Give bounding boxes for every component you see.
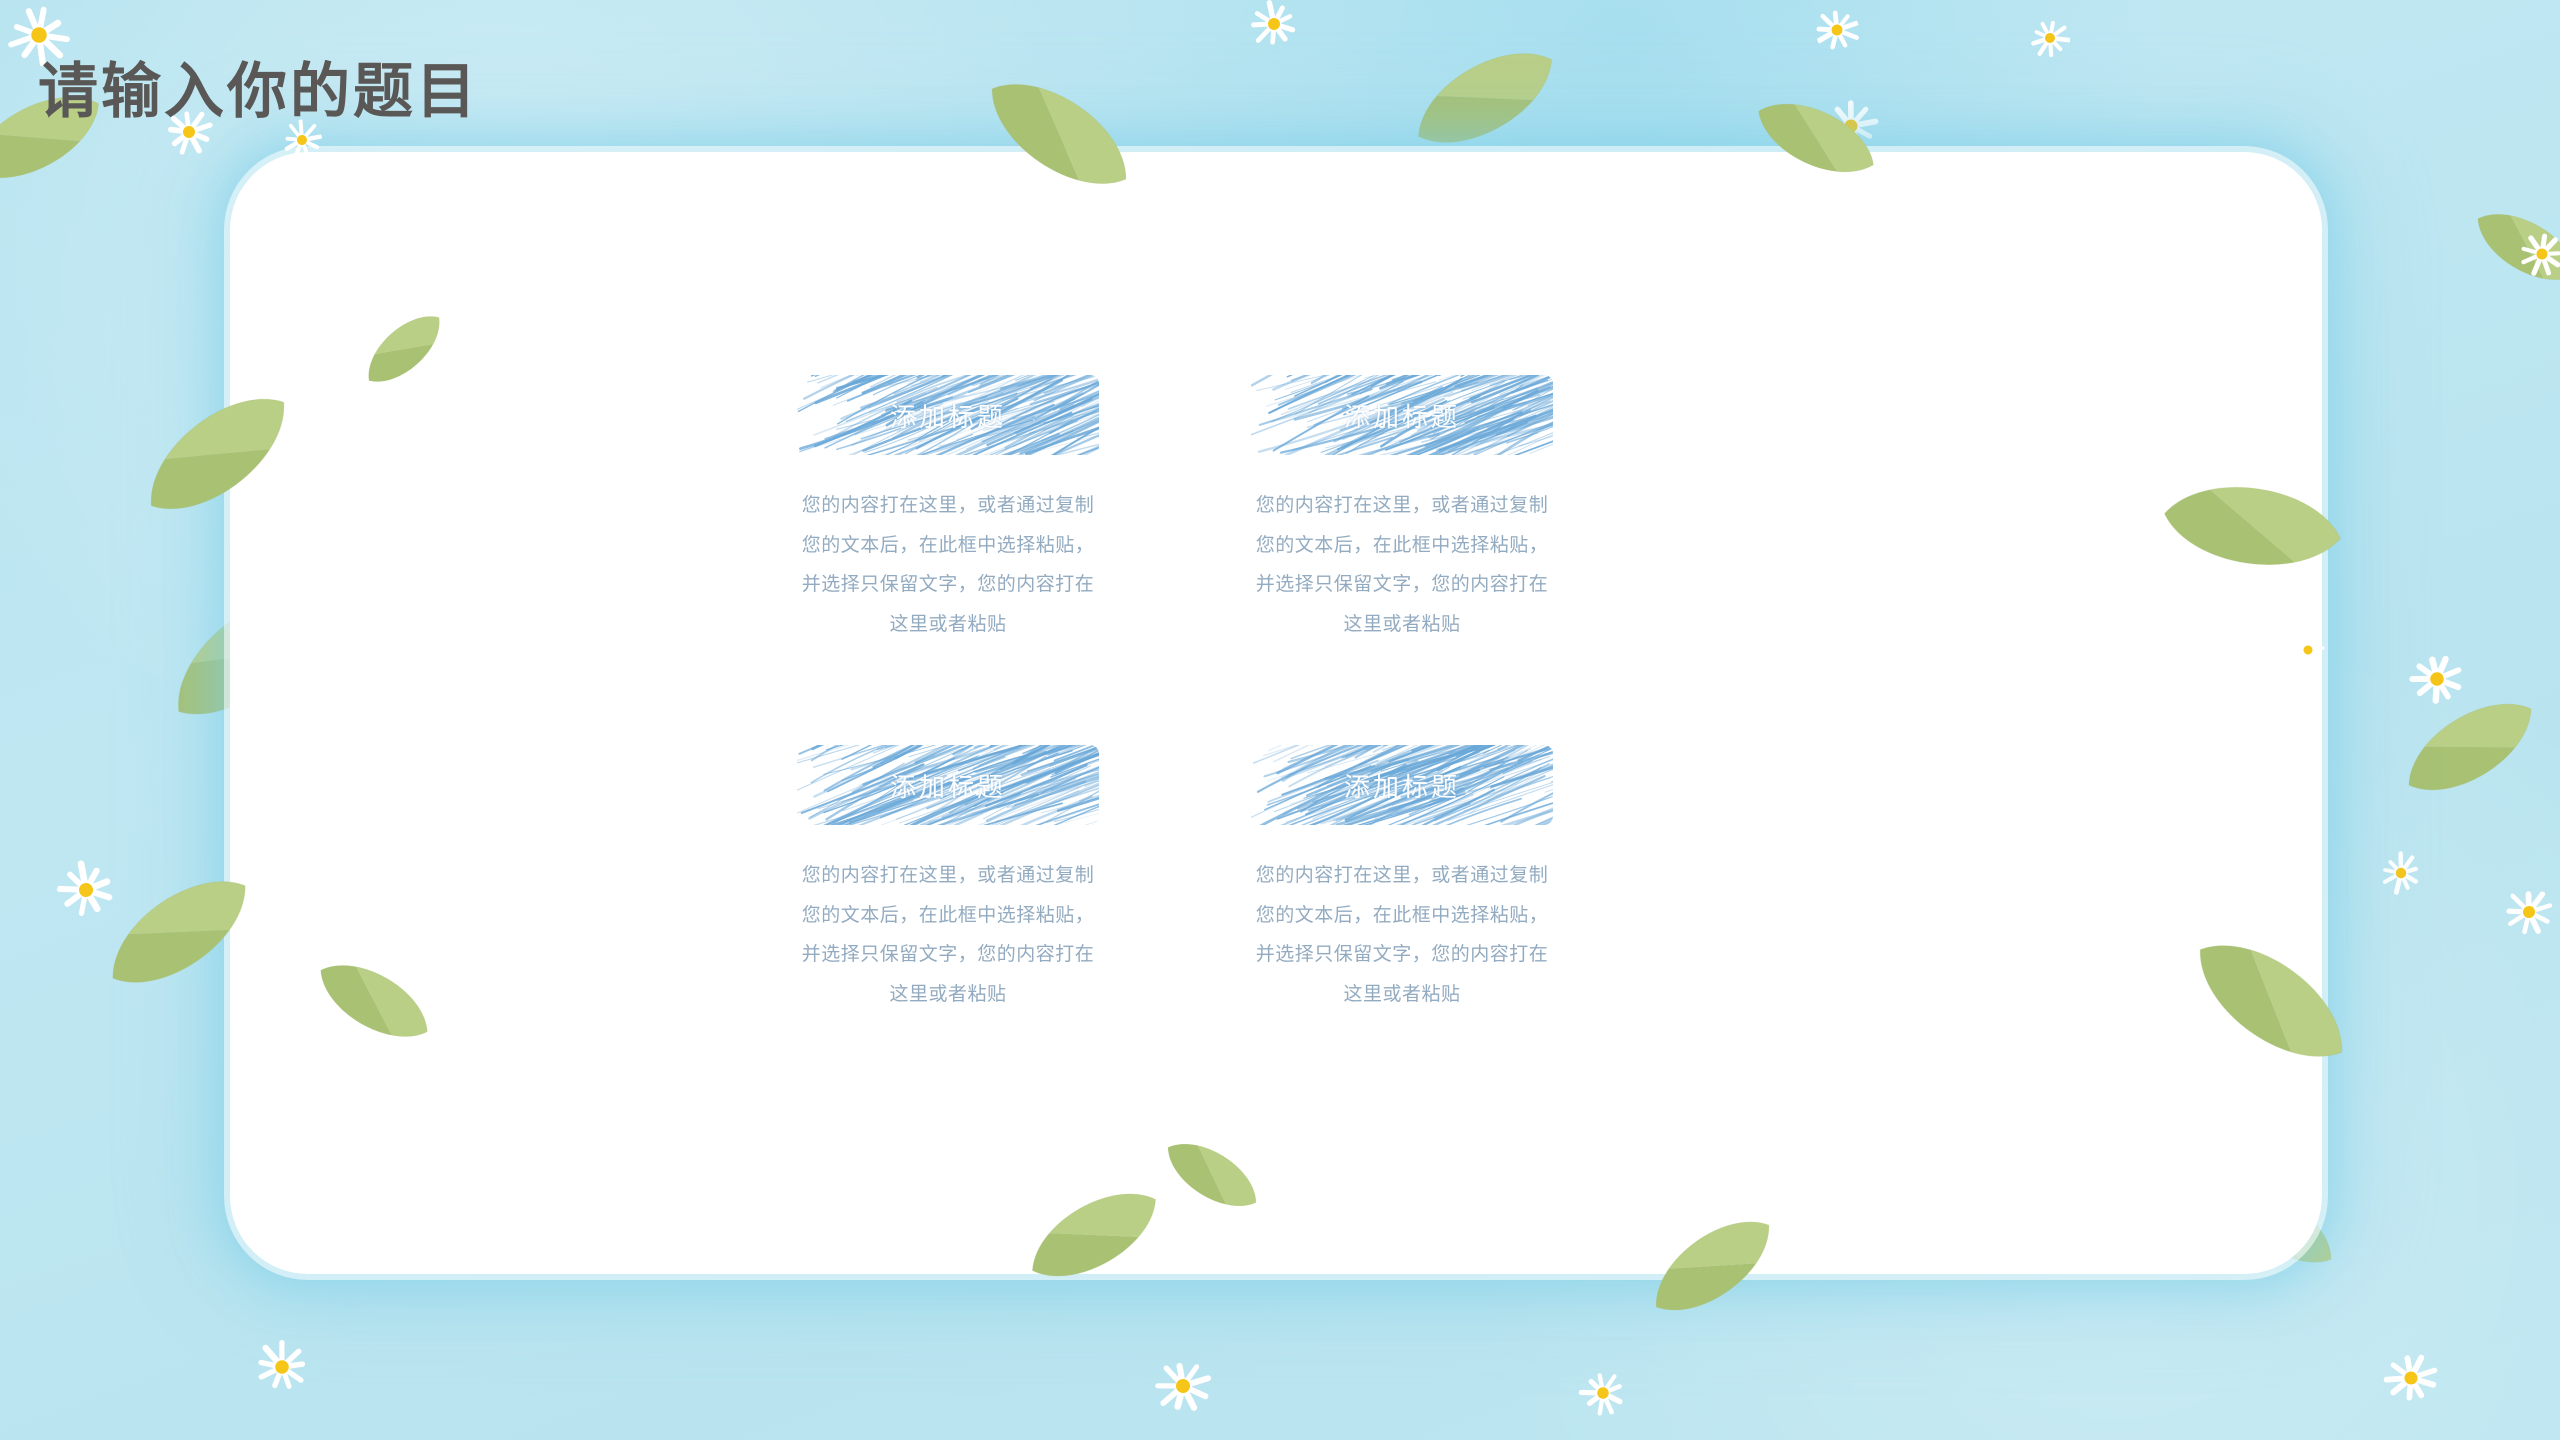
content-cell: 添加标题您的内容打在这里，或者通过复制您的文本后，在此框中选择粘贴，并选择只保留… [1254, 746, 1550, 1033]
leaf-icon [2457, 185, 2560, 308]
daisy-flower-icon [1816, 91, 1885, 160]
page-title: 请输入你的题目 [38, 54, 479, 129]
daisy-flower-icon [2375, 847, 2428, 900]
daisy-shape [1148, 1351, 1219, 1422]
content-cell: 添加标题您的内容打在这里，或者通过复制您的文本后，在此框中选择粘贴，并选择只保留… [800, 376, 1096, 663]
daisy-flower-icon [1573, 1363, 1633, 1423]
daisy-shape [2379, 1346, 2442, 1409]
daisy-flower-icon [250, 1335, 314, 1399]
heading-badge[interactable]: 添加标题 [1254, 376, 1550, 454]
heading-badge[interactable]: 添加标题 [800, 376, 1096, 454]
daisy-shape [2375, 847, 2428, 900]
leaf-shape [2457, 185, 2560, 308]
daisy-shape [1573, 1363, 1633, 1423]
daisy-shape [2517, 229, 2560, 280]
daisy-flower-icon [51, 855, 120, 924]
daisy-flower-icon [1809, 2, 1865, 58]
daisy-flower-icon [2498, 881, 2560, 943]
daisy-shape [2498, 881, 2560, 943]
heading-badge[interactable]: 添加标题 [1254, 746, 1550, 824]
heading-badge-label: 添加标题 [890, 767, 1006, 804]
heading-badge[interactable]: 添加标题 [800, 746, 1096, 824]
daisy-shape [51, 855, 120, 924]
daisy-shape [1816, 91, 1885, 160]
daisy-shape [1809, 2, 1865, 58]
daisy-shape [250, 1335, 314, 1399]
leaf-shape [2381, 667, 2558, 826]
cell-body-text: 您的内容打在这里，或者通过复制您的文本后，在此框中选择粘贴，并选择只保留文字，您… [1254, 486, 1550, 644]
cell-body-text: 您的内容打在这里，或者通过复制您的文本后，在此框中选择粘贴，并选择只保留文字，您… [1254, 856, 1550, 1014]
daisy-flower-icon [1148, 1351, 1219, 1422]
daisy-shape [2030, 18, 2070, 58]
content-cell: 添加标题您的内容打在这里，或者通过复制您的文本后，在此框中选择粘贴，并选择只保留… [1254, 376, 1550, 663]
slide-canvas: 请输入你的题目 添加标题您的内容打在这里，或者通过复制您的文本后，在此框中选择粘… [0, 0, 2560, 1440]
heading-badge-label: 添加标题 [1344, 397, 1460, 434]
daisy-flower-icon [2517, 229, 2560, 280]
daisy-flower-icon [2405, 647, 2469, 711]
leaf-icon [2381, 667, 2558, 826]
content-grid: 添加标题您的内容打在这里，或者通过复制您的文本后，在此框中选择粘贴，并选择只保留… [800, 376, 1550, 1033]
daisy-shape [2405, 647, 2469, 711]
heading-badge-label: 添加标题 [1344, 767, 1460, 804]
heading-badge-label: 添加标题 [890, 397, 1006, 434]
daisy-flower-icon [2030, 18, 2070, 58]
content-cell: 添加标题您的内容打在这里，或者通过复制您的文本后，在此框中选择粘贴，并选择只保留… [800, 746, 1096, 1033]
daisy-flower-icon [2379, 1346, 2442, 1409]
daisy-shape [1246, 0, 1302, 52]
cell-body-text: 您的内容打在这里，或者通过复制您的文本后，在此框中选择粘贴，并选择只保留文字，您… [800, 856, 1096, 1014]
cell-body-text: 您的内容打在这里，或者通过复制您的文本后，在此框中选择粘贴，并选择只保留文字，您… [800, 486, 1096, 644]
daisy-flower-icon [1246, 0, 1302, 52]
